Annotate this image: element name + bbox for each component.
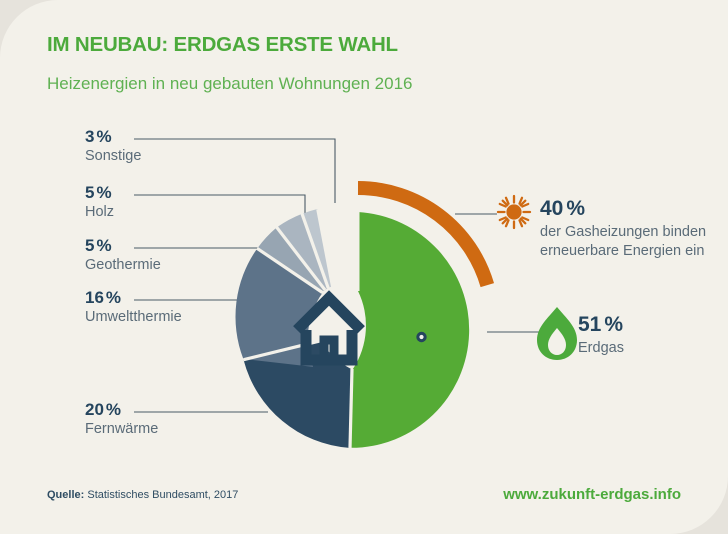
leader-line-sonstige	[134, 139, 335, 203]
flame-icon	[537, 307, 577, 360]
label-sonstige-value: 3%	[85, 128, 141, 146]
label-renewable-share: 40% der Gasheizungen binden erneuerbare …	[540, 198, 706, 261]
label-sonstige-name: Sonstige	[85, 149, 141, 165]
label-renewable-line2: erneuerbare Energien ein	[540, 242, 706, 261]
label-fernwaerme-value: 20%	[85, 401, 158, 419]
label-holz: 5% Holz	[85, 184, 114, 221]
label-umweltthermie-value: 16%	[85, 289, 182, 307]
label-renewable-value: 40%	[540, 198, 706, 220]
source-text: Statistisches Bundesamt, 2017	[84, 489, 238, 501]
label-renewable-line1: der Gasheizungen binden	[540, 223, 706, 242]
label-fernwaerme-name: Fernwärme	[85, 422, 158, 438]
label-geothermie-value: 5%	[85, 237, 161, 255]
label-erdgas-value: 51%	[578, 314, 624, 336]
radiator-valve-icon	[416, 332, 426, 342]
segment-divider-6	[350, 369, 352, 448]
label-fernwaerme: 20% Fernwärme	[85, 401, 158, 438]
label-holz-value: 5%	[85, 184, 114, 202]
label-sonstige: 3% Sonstige	[85, 128, 141, 165]
leader-line-holz	[134, 195, 305, 223]
label-geothermie: 5% Geothermie	[85, 237, 161, 274]
website-url[interactable]: www.zukunft-erdgas.info	[503, 486, 681, 503]
label-holz-name: Holz	[85, 205, 114, 221]
segment-erdgas[interactable]	[351, 212, 470, 448]
label-erdgas-name: Erdgas	[578, 339, 624, 358]
label-umweltthermie-name: Umweltthermie	[85, 310, 182, 326]
label-geothermie-name: Geothermie	[85, 258, 161, 274]
label-umweltthermie: 16% Umweltthermie	[85, 289, 182, 326]
label-erdgas: 51% Erdgas	[578, 314, 624, 358]
source-label: Quelle:	[47, 489, 84, 501]
infographic-card: IM NEUBAU: ERDGAS ERSTE WAHL Heizenergie…	[0, 0, 728, 534]
source-note: Quelle: Statistisches Bundesamt, 2017	[47, 489, 238, 501]
sun-icon	[498, 196, 530, 228]
